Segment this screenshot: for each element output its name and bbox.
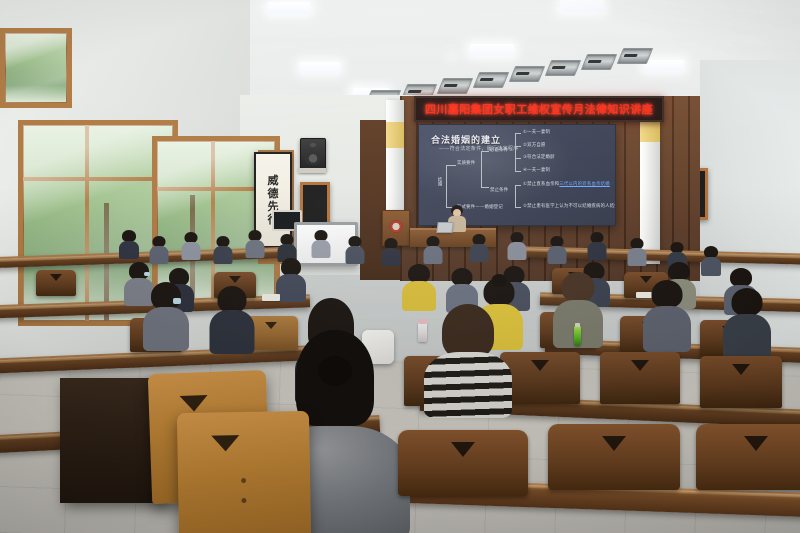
foreground-seat-right xyxy=(696,424,800,490)
ceiling-light xyxy=(560,0,604,12)
audience-person xyxy=(702,246,720,274)
drink-bottle xyxy=(574,326,581,346)
auditorium-seat xyxy=(36,270,76,296)
thermos-cup xyxy=(418,322,427,342)
speaker-cone xyxy=(305,153,320,165)
slide-connector xyxy=(515,171,521,172)
slide-connector xyxy=(481,187,489,188)
foreground-seat-right xyxy=(548,424,680,490)
audience-person xyxy=(628,238,646,266)
slide-connector xyxy=(515,185,521,186)
slide-prohibited-item: ①禁止直系血亲和三代以内的旁系血亲结婚 xyxy=(523,182,610,187)
speaker-bracket xyxy=(298,168,326,173)
audience-person xyxy=(278,258,304,300)
notebook xyxy=(262,294,280,301)
auditorium-seat xyxy=(500,352,580,404)
slide-required-item: ③符合法定婚龄 xyxy=(523,155,555,160)
slide-connector xyxy=(515,133,521,134)
auditorium-seat xyxy=(600,352,680,404)
audience-person xyxy=(382,238,400,266)
prohibited-prefix: ①禁止直系血亲和 xyxy=(523,182,559,187)
slide-brace xyxy=(515,185,516,207)
slide-required-item: ①一夫一妻制 xyxy=(523,130,550,135)
audience-person xyxy=(182,232,200,260)
company-crest-icon xyxy=(390,220,403,233)
audience-person xyxy=(726,288,768,358)
slide-required-item: ②双方自愿 xyxy=(523,143,546,148)
audience-person xyxy=(212,286,252,352)
ceiling-light xyxy=(300,62,340,73)
auditorium-seat xyxy=(700,356,782,408)
audience-person xyxy=(346,236,364,264)
wall-speaker-left xyxy=(300,138,326,170)
audience-person xyxy=(548,236,566,264)
audience-person-front xyxy=(430,304,506,414)
foreground-chair-front xyxy=(177,411,311,533)
audience-person xyxy=(246,230,264,258)
slide-connector xyxy=(481,151,489,152)
audience-person xyxy=(150,236,168,264)
slide-branch-node: 实质要件 xyxy=(457,161,475,166)
window-upper-corner xyxy=(0,28,72,108)
led-banner-text: 四川嘉阳集团女职工维权宣传月法律知识讲座 xyxy=(425,101,653,117)
speaker-tweeter xyxy=(310,143,316,148)
calligraphy-char: 德 xyxy=(268,188,279,199)
audience-person xyxy=(214,236,232,264)
chair-cutout xyxy=(212,435,240,451)
window-glare xyxy=(5,33,67,103)
chair-cutout xyxy=(179,395,208,412)
column-accent-band xyxy=(386,122,404,148)
slide-brace xyxy=(515,133,516,171)
led-banner: 四川嘉阳集团女职工维权宣传月法律知识讲座 xyxy=(414,96,664,122)
audience-person xyxy=(646,280,688,350)
audience-person xyxy=(146,282,186,348)
slide-root-node: 结婚 xyxy=(437,177,442,186)
laptop xyxy=(436,222,454,233)
slide-subbranch-node: 禁止条件 xyxy=(490,188,508,193)
lecture-hall-photo: 威 德 先 行 四川嘉阳集团女职工维权宣传月法律知识讲座 合法婚姻的建立 ——符… xyxy=(0,0,800,533)
audience-person xyxy=(120,230,138,258)
ceiling-light xyxy=(268,2,310,14)
slide-brace xyxy=(481,151,482,187)
slide-required-item: ④一夫一妻制 xyxy=(523,168,550,173)
slide-connector xyxy=(446,165,456,166)
slide-subbranch-node: 必备条件 xyxy=(490,148,508,153)
audience-person xyxy=(424,236,442,264)
slide-prohibited-item: ②禁止患有医学上认为不可以结婚疾病的人结婚 xyxy=(523,204,616,209)
foreground-seat-right xyxy=(398,430,528,496)
audience-person xyxy=(588,232,606,260)
audience-person xyxy=(508,232,526,260)
slide-brace xyxy=(446,165,447,207)
ceiling-light xyxy=(470,44,514,56)
audience-person xyxy=(470,234,488,262)
calligraphy-char: 威 xyxy=(268,175,279,186)
slide-connector xyxy=(515,207,521,208)
ceiling-light xyxy=(644,60,684,71)
slide-connector xyxy=(515,158,521,159)
slide-connector xyxy=(515,146,521,147)
audience-person xyxy=(312,230,330,258)
prohibited-link: 三代以内的旁系血亲结婚 xyxy=(559,182,610,187)
